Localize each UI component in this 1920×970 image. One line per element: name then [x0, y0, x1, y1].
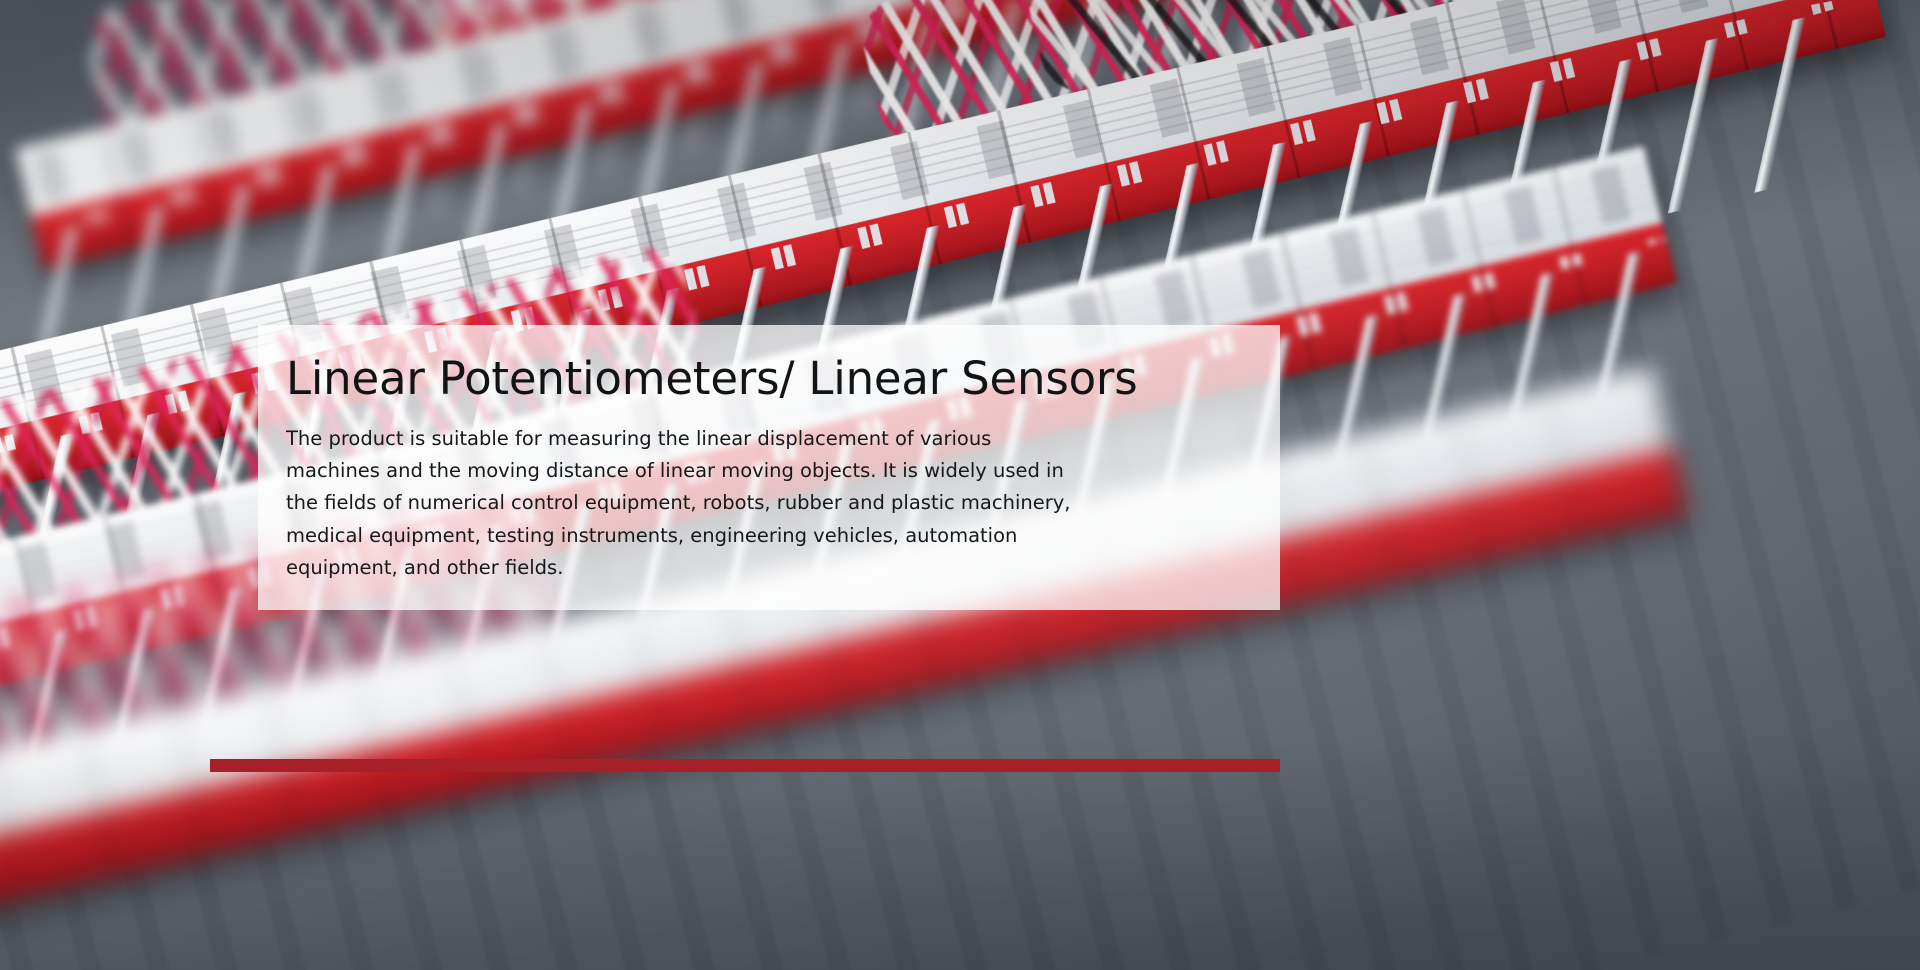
product-description: The product is suitable for measuring th… — [286, 423, 1086, 585]
accent-underline-bar — [210, 759, 1280, 772]
product-hero-banner: Linear Potentiometers/ Linear Sensors Th… — [0, 0, 1920, 970]
hero-text-card: Linear Potentiometers/ Linear Sensors Th… — [258, 325, 1280, 610]
page-title: Linear Potentiometers/ Linear Sensors — [286, 355, 1252, 403]
